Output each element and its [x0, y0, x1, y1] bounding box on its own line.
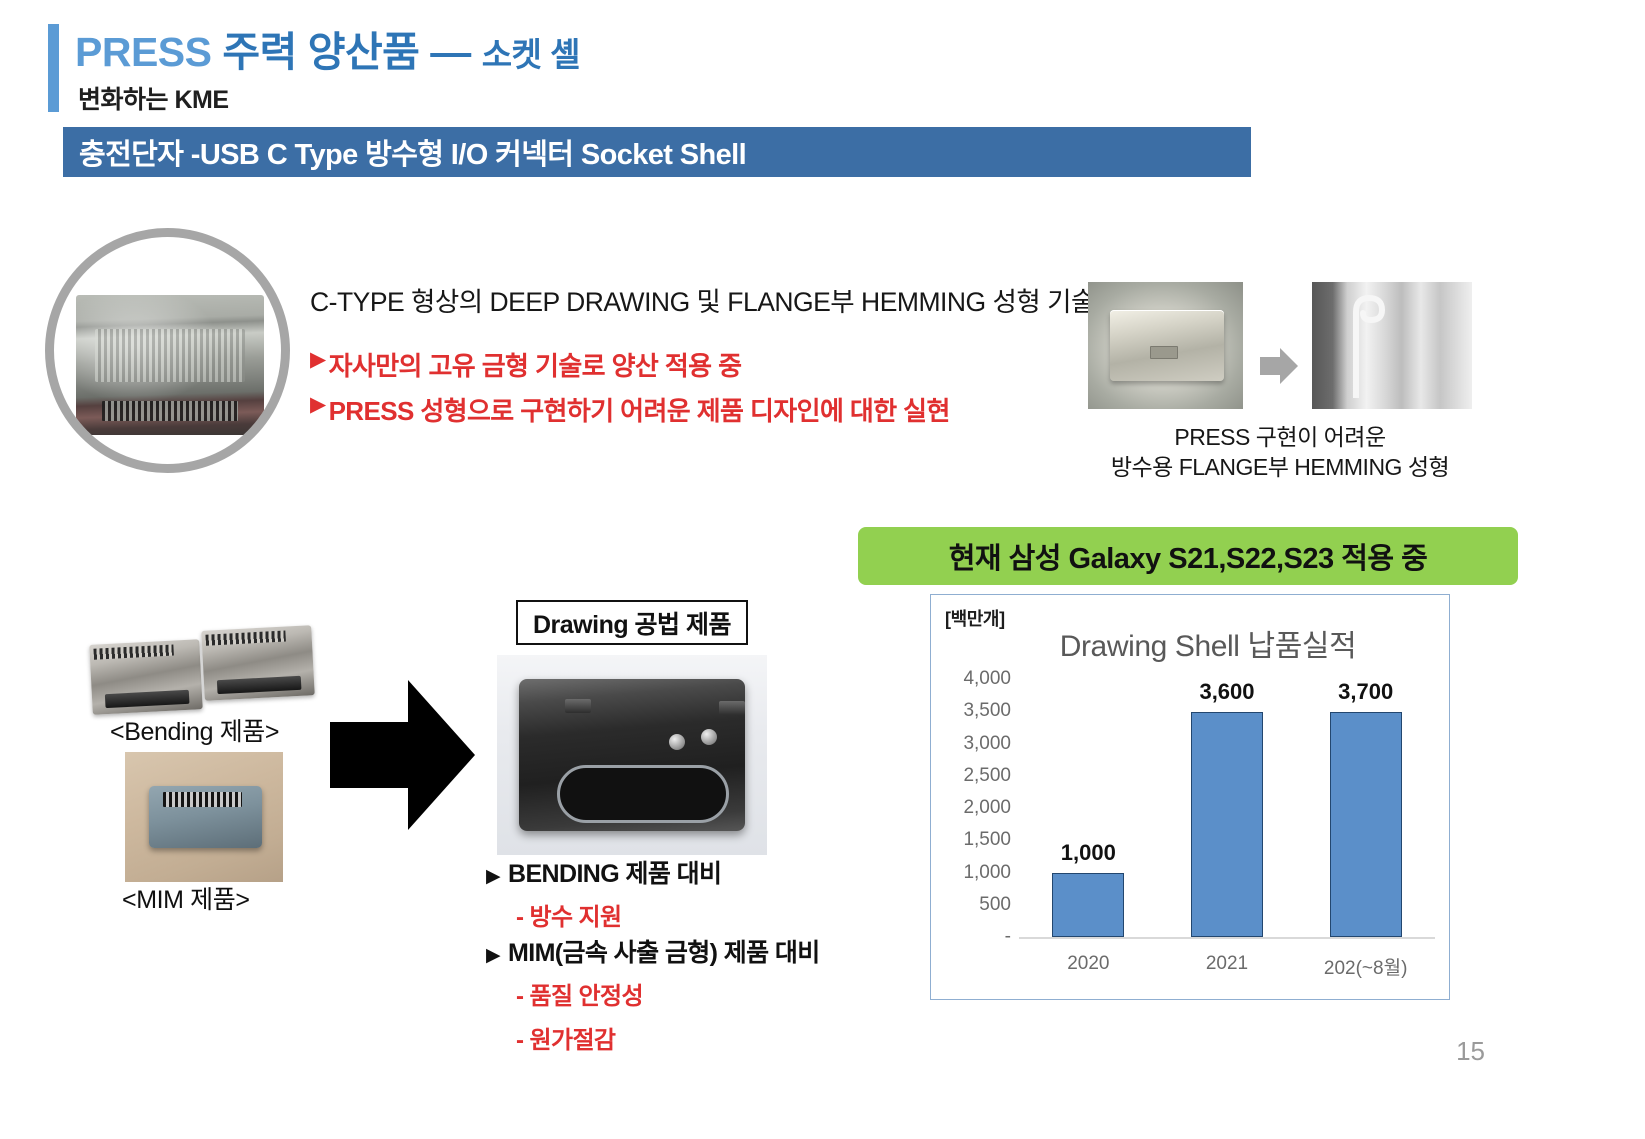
chart-bar-value-label: 1,000: [1061, 840, 1116, 866]
chart-bar: [1052, 873, 1124, 938]
drawing-bullet-2-sub-2: - 원가절감: [486, 1020, 846, 1055]
top-bullet-1-label: 자사만의 고유 금형 기술로 양산 적용 중: [329, 346, 742, 383]
page-title: PRESS 주력 양산품 — 소켓 셸: [75, 18, 580, 78]
drawing-bullet-1-label: BENDING 제품 대비: [508, 862, 721, 887]
triangle-bullet-icon: ▶: [486, 946, 500, 965]
chart-bar-value-label: 3,700: [1338, 679, 1393, 705]
bending-connector-1: [89, 639, 203, 715]
dash-marker: -: [516, 983, 523, 1010]
dash-marker: -: [516, 904, 523, 931]
dash-marker: -: [516, 1027, 523, 1054]
socket-shell-photo-image: [76, 295, 264, 435]
drawing-shell-body: [519, 679, 745, 831]
top-bullet-2: ▶ PRESS 성형으로 구현하기 어려운 제품 디자인에 대한 실현: [310, 391, 950, 428]
arrow-right-large-icon: [330, 680, 475, 830]
drawing-method-label: Drawing 공법 제품: [533, 605, 731, 641]
bending-product-photo: [85, 620, 325, 715]
delivery-chart-card: [백만개] Drawing Shell 납품실적 4,0003,5003,000…: [930, 594, 1450, 1000]
triangle-bullet-icon: ▶: [310, 391, 326, 419]
bending-connector-2: [201, 625, 315, 701]
drawing-shell-photo: [497, 655, 767, 855]
socket-shell-circle-photo: [45, 228, 290, 473]
flange-photo-caption: PRESS 구현이 어려운 방수용 FLANGE부 HEMMING 성형: [1080, 422, 1480, 483]
drawing-bullet-2-sub-1-label: 품질 안정성: [529, 983, 642, 1010]
chart-y-tick: 1,000: [963, 862, 1011, 884]
drawing-bullet-2-sub-2-label: 원가절감: [529, 1027, 615, 1054]
chart-x-tick: 2021: [1206, 953, 1248, 975]
hemming-hook-shape: [1352, 294, 1386, 398]
title-accent-bar: [48, 24, 59, 112]
flange-hemming-closeup-photo: [1312, 282, 1472, 409]
chart-y-tick: 3,000: [963, 733, 1011, 755]
drawing-bullet-2-label: MIM(금속 사출 금형) 제품 대비: [508, 941, 820, 966]
shell-stud-1: [669, 734, 685, 750]
chart-y-tick: 4,000: [963, 668, 1011, 690]
top-bullet-1: ▶ 자사만의 고유 금형 기술로 양산 적용 중: [310, 346, 741, 383]
section-header-bar: 충전단자 -USB C Type 방수형 I/O 커넥터 Socket Shel…: [63, 127, 1251, 177]
title-dash: —: [419, 29, 481, 75]
drawing-bullet-2-sub-1: - 품질 안정성: [486, 976, 846, 1011]
chart-bar-group: 3,600: [1158, 679, 1297, 937]
mim-product-photo: [125, 752, 283, 882]
chart-y-tick: 3,500: [963, 700, 1011, 722]
chart-bar: [1330, 712, 1402, 937]
deep-drawing-heading: C-TYPE 형상의 DEEP DRAWING 및 FLANGE부 HEMMIN…: [310, 280, 1095, 319]
flange-caption-line-1: PRESS 구현이 어려운: [1080, 422, 1480, 452]
title-main-word: 주력 양산품: [212, 29, 420, 75]
chart-bar-group: 1,000: [1019, 679, 1158, 937]
shell-port-opening: [557, 765, 729, 823]
drawing-bullet-1: ▶ BENDING 제품 대비: [486, 862, 846, 887]
triangle-bullet-icon: ▶: [310, 346, 326, 374]
shell-tab-right: [719, 701, 745, 715]
chart-baseline: [1019, 937, 1435, 939]
mim-caption: <MIM 제품>: [122, 880, 250, 916]
arrow-right-icon: [1258, 345, 1300, 387]
chart-y-tick: 500: [979, 894, 1011, 916]
shell-tab-left: [565, 699, 591, 713]
chart-plot-area: 1,0003,6003,700: [1019, 679, 1435, 937]
chart-y-tick: 2,500: [963, 765, 1011, 787]
drawing-bullet-2: ▶ MIM(금속 사출 금형) 제품 대비: [486, 941, 846, 966]
flange-before-photo: [1088, 282, 1243, 409]
chart-bar-value-label: 3,600: [1199, 679, 1254, 705]
chart-bar-group: 3,700: [1296, 679, 1435, 937]
chart-y-axis: 4,0003,5003,0002,5002,0001,5001,000500-: [939, 679, 1015, 937]
galaxy-application-banner: 현재 삼성 Galaxy S21,S22,S23 적용 중: [858, 527, 1518, 585]
galaxy-application-label: 현재 삼성 Galaxy S21,S22,S23 적용 중: [949, 535, 1428, 577]
chart-y-tick: 2,000: [963, 797, 1011, 819]
title-press-word: PRESS: [75, 29, 212, 75]
drawing-bullet-1-sub-1-label: 방수 지원: [529, 904, 621, 931]
drawing-advantages-list: ▶ BENDING 제품 대비 - 방수 지원 ▶ MIM(금속 사출 금형) …: [486, 862, 846, 1064]
chart-bar: [1191, 712, 1263, 937]
triangle-bullet-icon: ▶: [486, 867, 500, 886]
drawing-method-label-box: Drawing 공법 제품: [516, 600, 748, 645]
chart-y-tick: 1,500: [963, 829, 1011, 851]
top-bullet-2-label: PRESS 성형으로 구현하기 어려운 제품 디자인에 대한 실현: [329, 391, 950, 428]
slide-subtitle: 변화하는 KME: [78, 80, 229, 116]
chart-y-tick: -: [1005, 926, 1011, 948]
chart-x-tick: 2020: [1067, 953, 1109, 975]
shell-stud-2: [701, 729, 717, 745]
page-number: 15: [1456, 1036, 1485, 1067]
flange-caption-line-2: 방수용 FLANGE부 HEMMING 성형: [1080, 452, 1480, 482]
section-header-label: 충전단자 -USB C Type 방수형 I/O 커넥터 Socket Shel…: [63, 131, 746, 173]
bending-caption: <Bending 제품>: [110, 712, 279, 748]
chart-title: Drawing Shell 납품실적: [931, 621, 1449, 665]
chart-x-tick: 202(~8월): [1324, 953, 1408, 980]
drawing-bullet-1-sub-1: - 방수 지원: [486, 897, 846, 932]
title-sub-word: 소켓 셸: [482, 36, 580, 73]
